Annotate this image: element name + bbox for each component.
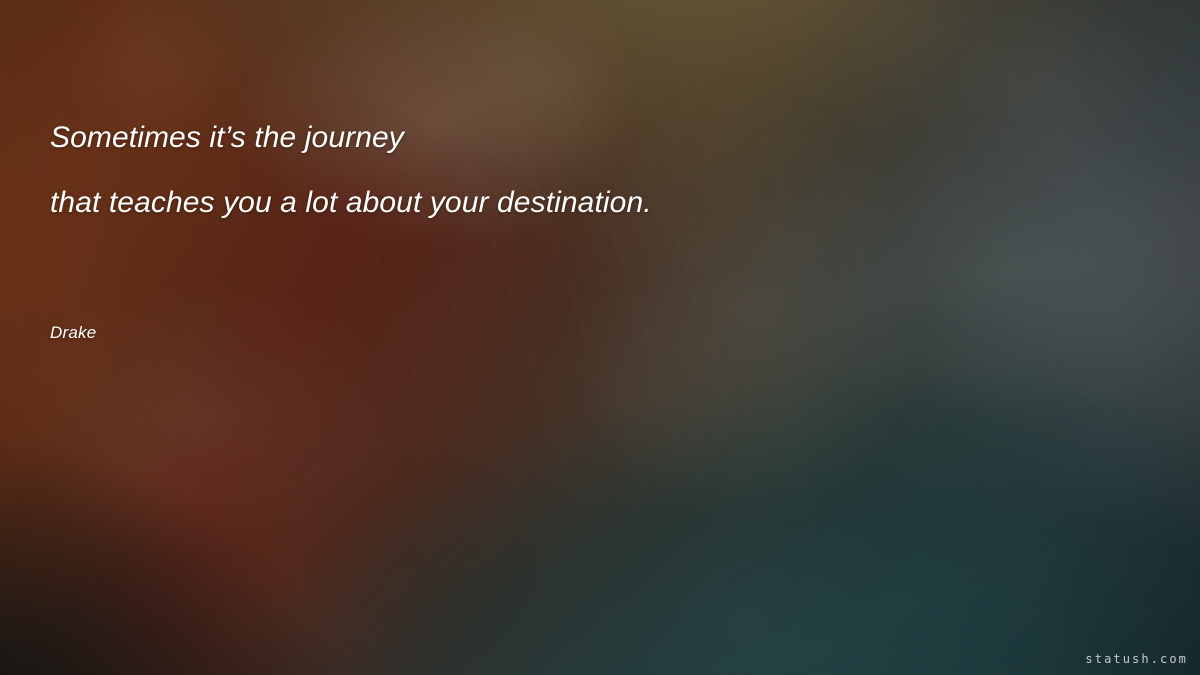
quote-content: Sometimes it’s the journey that teaches … [0, 0, 1200, 675]
quote-card: Sometimes it’s the journey that teaches … [0, 0, 1200, 675]
site-watermark: statush.com [1085, 653, 1188, 665]
quote-text-line-1: Sometimes it’s the journey [50, 123, 404, 153]
quote-author: Drake [50, 324, 96, 341]
quote-text-line-2: that teaches you a lot about your destin… [50, 188, 652, 218]
